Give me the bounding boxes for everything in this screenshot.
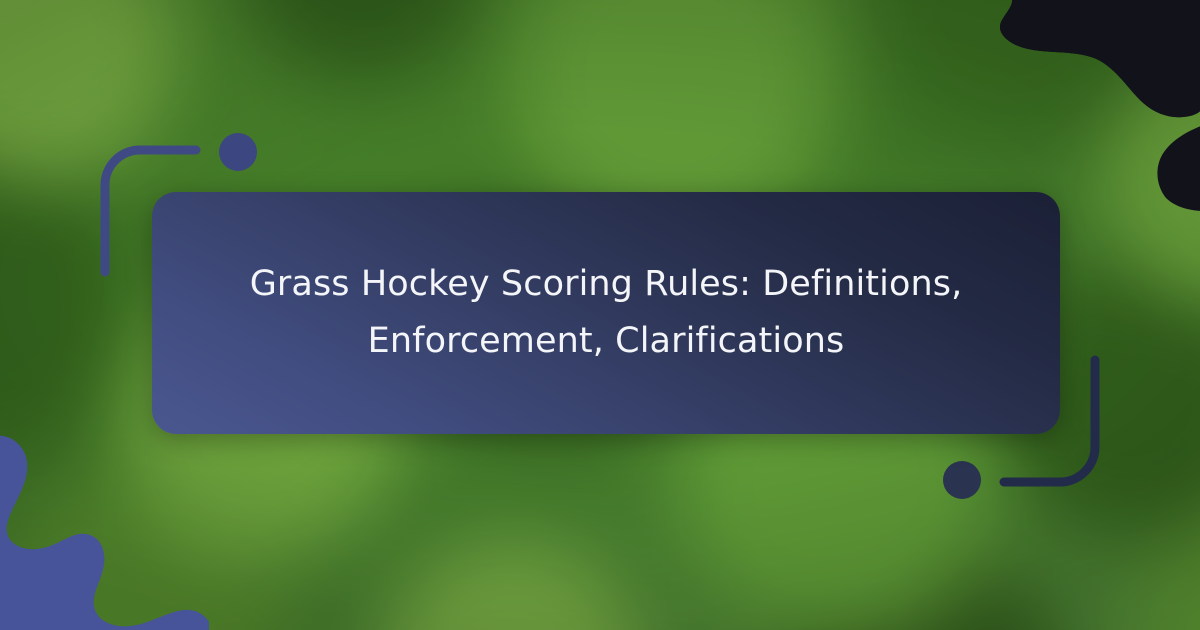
title-card: Grass Hockey Scoring Rules: Definitions,… bbox=[152, 192, 1060, 434]
share-card-canvas: Grass Hockey Scoring Rules: Definitions,… bbox=[0, 0, 1200, 630]
page-title: Grass Hockey Scoring Rules: Definitions,… bbox=[214, 256, 998, 369]
